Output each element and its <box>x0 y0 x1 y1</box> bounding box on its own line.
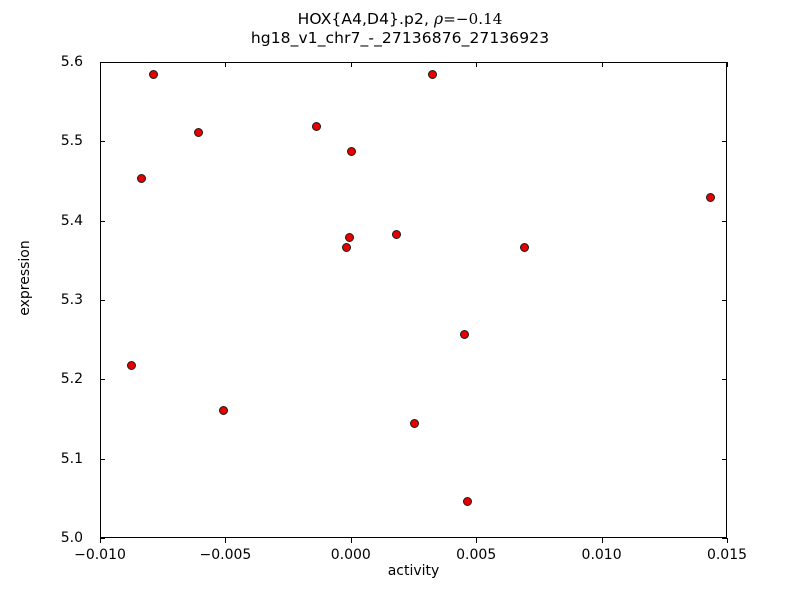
y-tick <box>100 300 105 301</box>
x-axis-label: activity <box>100 563 727 579</box>
x-axis-ticks-top <box>100 62 727 68</box>
scatter-point <box>706 193 715 202</box>
y-tick-label: 5.3 <box>61 292 83 308</box>
title-motif-text: HOX{A4,D4}.p2, <box>298 10 434 28</box>
scatter-point <box>463 497 472 506</box>
x-tick <box>727 538 728 543</box>
x-tick-label: 0.010 <box>582 547 622 563</box>
x-tick-label: 0.005 <box>456 547 496 563</box>
y-tick-label: 5.6 <box>61 54 83 70</box>
scatter-points-layer <box>101 63 726 537</box>
x-tick-label: 0.000 <box>331 547 371 563</box>
y-tick-right <box>722 538 727 539</box>
y-tick <box>100 538 105 539</box>
x-tick-label: −0.010 <box>74 547 126 563</box>
y-tick-right <box>722 300 727 301</box>
y-axis-label: expression <box>17 198 33 358</box>
y-tick <box>100 379 105 380</box>
scatter-point <box>345 233 354 242</box>
y-tick-label: 5.2 <box>61 371 83 387</box>
scatter-point <box>127 361 136 370</box>
y-tick <box>100 62 105 63</box>
y-tick-label: 5.4 <box>61 213 83 229</box>
y-tick-right <box>722 379 727 380</box>
figure-title-block: HOX{A4,D4}.p2, ρ=−0.14 hg18_v1_chr7_-_27… <box>0 10 800 47</box>
y-axis-ticks-right <box>722 62 728 538</box>
rho-value: =−0.14 <box>443 10 502 28</box>
y-tick-right <box>722 221 727 222</box>
y-tick-right <box>722 141 727 142</box>
figure-subtitle: hg18_v1_chr7_-_27136876_27136923 <box>0 29 800 47</box>
y-tick <box>100 459 105 460</box>
plot-axes-frame <box>100 62 727 538</box>
scatter-point <box>520 243 529 252</box>
scatter-point <box>428 70 437 79</box>
scatter-plot-figure: HOX{A4,D4}.p2, ρ=−0.14 hg18_v1_chr7_-_27… <box>0 0 800 600</box>
x-tick-top <box>602 62 603 67</box>
rho-symbol: ρ <box>434 10 443 28</box>
y-tick-right <box>722 62 727 63</box>
x-tick-top <box>225 62 226 67</box>
scatter-point <box>410 419 419 428</box>
y-axis-ticks-left <box>100 62 106 538</box>
y-tick <box>100 221 105 222</box>
x-axis-ticks-bottom: −0.010−0.0050.0000.0050.0100.015 <box>100 538 727 544</box>
scatter-point <box>149 70 158 79</box>
x-tick <box>602 538 603 543</box>
x-tick <box>476 538 477 543</box>
scatter-point <box>219 406 228 415</box>
y-tick-label: 5.5 <box>61 133 83 149</box>
y-tick <box>100 141 105 142</box>
y-tick-label: 5.0 <box>61 530 83 546</box>
x-tick <box>225 538 226 543</box>
x-tick-label: 0.015 <box>707 547 747 563</box>
y-tick-right <box>722 459 727 460</box>
y-axis-tick-labels: 5.05.15.25.35.45.55.6 <box>0 62 92 538</box>
scatter-point <box>347 147 356 156</box>
scatter-point <box>194 128 203 137</box>
x-tick-top <box>476 62 477 67</box>
figure-title: HOX{A4,D4}.p2, ρ=−0.14 <box>0 10 800 29</box>
y-tick-label: 5.1 <box>61 451 83 467</box>
scatter-point <box>342 243 351 252</box>
scatter-point <box>312 122 321 131</box>
x-tick-top <box>351 62 352 67</box>
x-tick <box>351 538 352 543</box>
scatter-point <box>137 174 146 183</box>
x-tick-label: −0.005 <box>199 547 251 563</box>
scatter-point <box>460 330 469 339</box>
scatter-point <box>392 230 401 239</box>
